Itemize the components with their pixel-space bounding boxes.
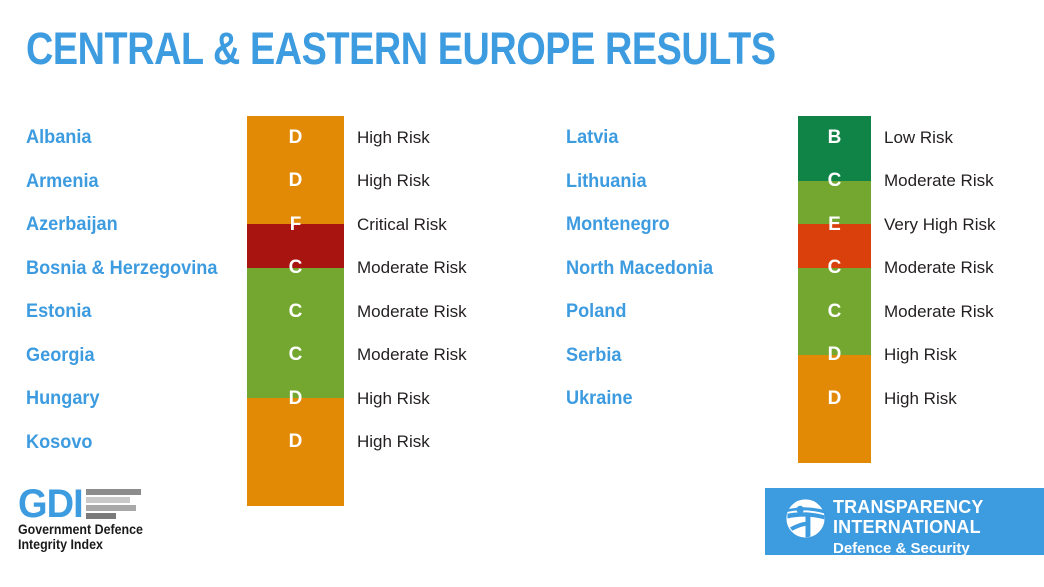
country-name: Poland [566, 300, 775, 323]
risk-label: Moderate Risk [884, 171, 994, 191]
gdi-logomark: GDI [18, 487, 142, 521]
gdi-bar-2 [86, 497, 130, 503]
gdi-name-line2: Integrity Index [18, 537, 143, 552]
risk-label: High Risk [884, 389, 957, 409]
risk-label: High Risk [357, 171, 430, 191]
country-name: Albania [26, 126, 235, 149]
country-name: Lithuania [566, 170, 775, 193]
ti-line-international: INTERNATIONAL [833, 517, 984, 537]
grade-letter: C [247, 257, 344, 279]
table-row[interactable]: GeorgiaCModerate Risk [26, 334, 526, 378]
slide-canvas: CENTRAL & EASTERN EUROPE RESULTS Albania… [0, 0, 1044, 587]
risk-label: Moderate Risk [357, 345, 467, 365]
table-row[interactable]: ArmeniaDHigh Risk [26, 160, 526, 204]
country-name: Armenia [26, 170, 235, 193]
gdi-name-line1: Government Defence [18, 522, 143, 537]
grade-letter: C [247, 301, 344, 323]
country-name: Ukraine [566, 387, 775, 410]
risk-label: High Risk [357, 389, 430, 409]
country-name: Kosovo [26, 431, 235, 454]
gdi-bar-4 [86, 513, 116, 519]
grade-letter: C [798, 170, 871, 192]
page-title: CENTRAL & EASTERN EUROPE RESULTS [26, 22, 776, 76]
country-name: Latvia [566, 126, 775, 149]
grade-letter: D [247, 170, 344, 192]
country-name: Georgia [26, 344, 235, 367]
risk-label: Very High Risk [884, 215, 995, 235]
table-row[interactable]: HungaryDHigh Risk [26, 377, 526, 421]
results-column-right: LatviaBLow RiskLithuaniaCModerate RiskMo… [566, 116, 1036, 421]
transparency-international-logo: TRANSPARENCY INTERNATIONAL Defence & Sec… [765, 488, 1044, 555]
risk-label: Low Risk [884, 128, 953, 148]
grade-letter: D [247, 127, 344, 149]
grade-letter: D [798, 388, 871, 410]
risk-label: Moderate Risk [884, 258, 994, 278]
table-row[interactable]: MontenegroEVery High Risk [566, 203, 1036, 247]
grade-letter: D [247, 431, 344, 453]
risk-label: Moderate Risk [884, 302, 994, 322]
gdi-logo-name: Government Defence Integrity Index [18, 522, 143, 552]
table-row[interactable]: North MacedoniaCModerate Risk [566, 247, 1036, 291]
country-name: Bosnia & Herzegovina [26, 257, 235, 280]
table-row[interactable]: LatviaBLow Risk [566, 116, 1036, 160]
grade-letter: C [798, 301, 871, 323]
grade-letter: E [798, 214, 871, 236]
country-row-list-right: LatviaBLow RiskLithuaniaCModerate RiskMo… [566, 116, 1036, 421]
grade-letter: C [798, 257, 871, 279]
country-name: Montenegro [566, 213, 775, 236]
transparency-international-emblem-icon [785, 498, 826, 539]
country-name: Estonia [26, 300, 235, 323]
country-name: Serbia [566, 344, 775, 367]
transparency-international-wordmark: TRANSPARENCY INTERNATIONAL Defence & Sec… [833, 497, 988, 558]
country-name: North Macedonia [566, 257, 775, 280]
gdi-letters: GDI [18, 485, 83, 523]
gdi-bar-1 [86, 489, 141, 495]
table-row[interactable]: AzerbaijanFCritical Risk [26, 203, 526, 247]
risk-label: Critical Risk [357, 215, 447, 235]
grade-letter: B [798, 127, 871, 149]
grade-letter: F [247, 214, 344, 236]
gdi-bar-chart-icon [75, 489, 141, 520]
country-row-list-left: AlbaniaDHigh RiskArmeniaDHigh RiskAzerba… [26, 116, 526, 464]
grade-letter: D [798, 344, 871, 366]
country-name: Hungary [26, 387, 235, 410]
risk-label: High Risk [357, 128, 430, 148]
table-row[interactable]: AlbaniaDHigh Risk [26, 116, 526, 160]
risk-label: Moderate Risk [357, 302, 467, 322]
risk-label: High Risk [884, 345, 957, 365]
ti-line-transparency: TRANSPARENCY [833, 497, 984, 517]
gdi-bar-3 [86, 505, 136, 511]
table-row[interactable]: Bosnia & HerzegovinaCModerate Risk [26, 247, 526, 291]
gdi-logo: GDI Government Defence Integrity Index [18, 487, 142, 559]
table-row[interactable]: EstoniaCModerate Risk [26, 290, 526, 334]
table-row[interactable]: UkraineDHigh Risk [566, 377, 1036, 421]
risk-label: Moderate Risk [357, 258, 467, 278]
results-column-left: AlbaniaDHigh RiskArmeniaDHigh RiskAzerba… [26, 116, 526, 464]
table-row[interactable]: KosovoDHigh Risk [26, 421, 526, 465]
table-row[interactable]: LithuaniaCModerate Risk [566, 160, 1036, 204]
risk-label: High Risk [357, 432, 430, 452]
table-row[interactable]: SerbiaDHigh Risk [566, 334, 1036, 378]
table-row[interactable]: PolandCModerate Risk [566, 290, 1036, 334]
ti-line-defence-security: Defence & Security [833, 539, 988, 558]
grade-letter: D [247, 388, 344, 410]
country-name: Azerbaijan [26, 213, 235, 236]
grade-letter: C [247, 344, 344, 366]
